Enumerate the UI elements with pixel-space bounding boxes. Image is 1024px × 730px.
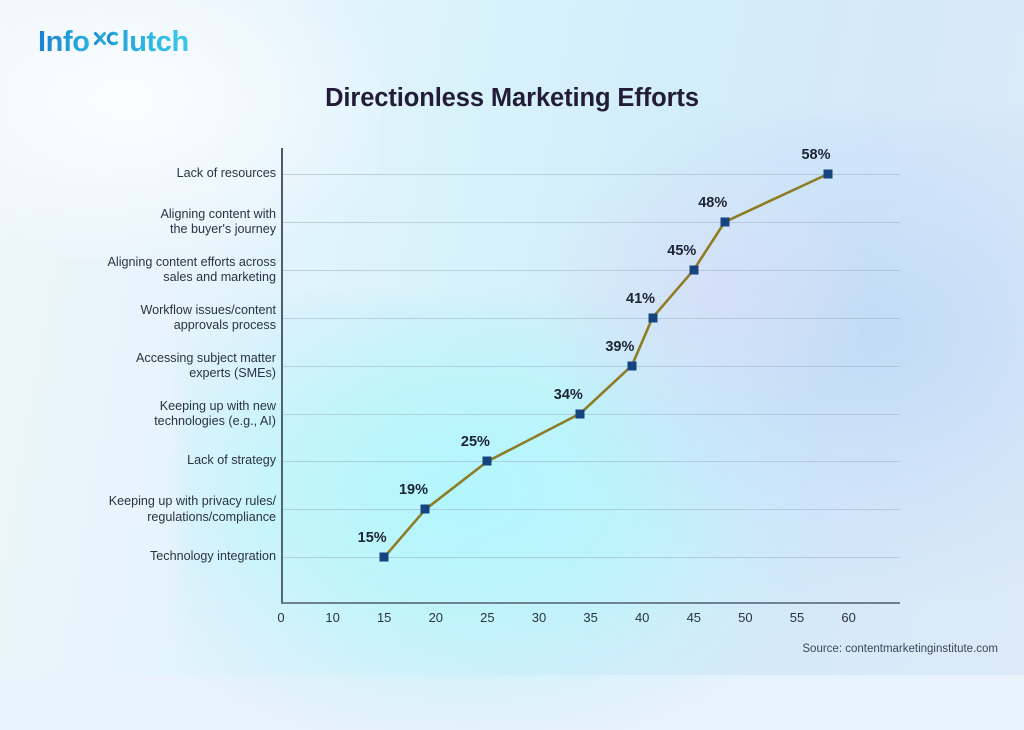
- data-point-label: 19%: [399, 482, 428, 498]
- data-point-label: 25%: [461, 434, 490, 450]
- data-point-label: 34%: [554, 387, 583, 403]
- data-point-label: 48%: [698, 195, 727, 211]
- data-point-label: 39%: [605, 339, 634, 355]
- line-chart: Technology integrationKeeping up with pr…: [0, 0, 1024, 675]
- data-point-marker: [823, 170, 832, 179]
- source-attribution: Source: contentmarketinginstitute.com: [802, 643, 998, 655]
- data-point-marker: [576, 409, 585, 418]
- data-point-marker: [648, 313, 657, 322]
- data-point-marker: [689, 265, 698, 274]
- series-line: [0, 0, 1024, 675]
- data-point-label: 41%: [626, 291, 655, 307]
- data-point-marker: [720, 217, 729, 226]
- data-point-marker: [421, 505, 430, 514]
- data-point-label: 45%: [667, 243, 696, 259]
- data-point-label: 15%: [358, 530, 387, 546]
- data-point-marker: [483, 457, 492, 466]
- data-point-marker: [627, 361, 636, 370]
- data-point-marker: [380, 553, 389, 562]
- data-point-label: 58%: [801, 147, 830, 163]
